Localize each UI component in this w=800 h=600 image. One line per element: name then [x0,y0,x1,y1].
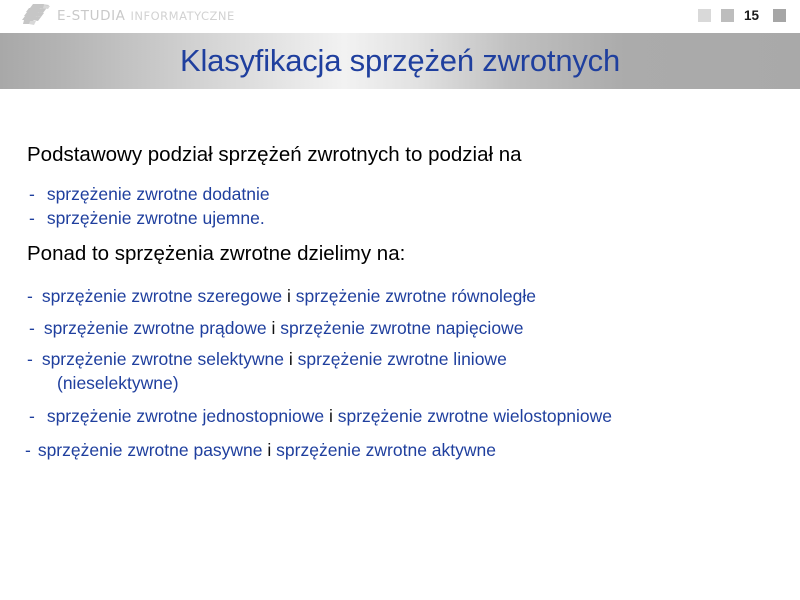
list-item: -sprzężenie zwrotne prądowe i sprzężenie… [29,318,523,339]
list-item-label-right: sprzężenie zwrotne aktywne [276,440,496,460]
square-mark-3 [773,9,786,22]
list-item-label-left: sprzężenie zwrotne selektywne [42,349,284,369]
list-item-label-right: sprzężenie zwrotne wielostopniowe [338,406,612,426]
bullet-dash: - [25,440,38,461]
list-item: -sprzężenie zwrotne ujemne. [29,208,265,229]
list-item: -sprzężenie zwrotne jednostopniowe i spr… [29,406,612,427]
list-item: -sprzężenie zwrotne dodatnie [29,184,270,205]
brand: E-STUDIA INFORMATYCZNE [22,3,235,29]
square-mark-1 [698,9,711,22]
bullet-dash: - [29,406,47,427]
list-item-label-right: sprzężenie zwrotne liniowe [298,349,507,369]
header-marks: 15 [698,9,786,22]
square-mark-2 [721,9,734,22]
page-number: 15 [744,9,759,22]
list-item: -sprzężenie zwrotne pasywne i sprzężenie… [25,440,496,461]
brand-secondary-label: INFORMATYCZNE [131,9,235,23]
slide-title: Klasyfikacja sprzężeń zwrotnych [180,43,620,79]
list-item-label-left: sprzężenie zwrotne jednostopniowe [47,406,324,426]
list-item-label: sprzężenie zwrotne dodatnie [47,184,270,204]
bullet-dash: - [29,184,47,205]
list-item-label-left: sprzężenie zwrotne prądowe [44,318,267,338]
slide-body: Podstawowy podział sprzężeń zwrotnych to… [0,89,800,600]
lead-paragraph-1: Podstawowy podział sprzężeń zwrotnych to… [27,143,522,167]
list-item-label-right: sprzężenie zwrotne napięciowe [280,318,523,338]
bullet-dash: - [29,318,44,339]
list-item-label-left: sprzężenie zwrotne pasywne [38,440,263,460]
list-item-label-right: sprzężenie zwrotne równoległe [296,286,536,306]
bullet-dash: - [27,349,42,370]
brand-text: E-STUDIA INFORMATYCZNE [57,8,235,24]
list-item-label-left: sprzężenie zwrotne szeregowe [42,286,282,306]
stacked-diamonds-logo-icon [22,3,52,29]
list-item-continuation: (nieselektywne) [57,373,507,394]
list-item: -sprzężenie zwrotne szeregowe i sprzężen… [27,286,536,307]
title-band: Klasyfikacja sprzężeń zwrotnych [0,33,800,89]
bullet-dash: - [29,208,47,229]
bullet-dash: - [27,286,42,307]
brand-primary-label: E-STUDIA [57,8,126,24]
slide-header: E-STUDIA INFORMATYCZNE 15 [0,0,800,33]
list-item: -sprzężenie zwrotne selektywne i sprzęże… [27,349,507,394]
list-item-label: sprzężenie zwrotne ujemne. [47,208,265,228]
lead-paragraph-2: Ponad to sprzężenia zwrotne dzielimy na: [27,242,405,266]
